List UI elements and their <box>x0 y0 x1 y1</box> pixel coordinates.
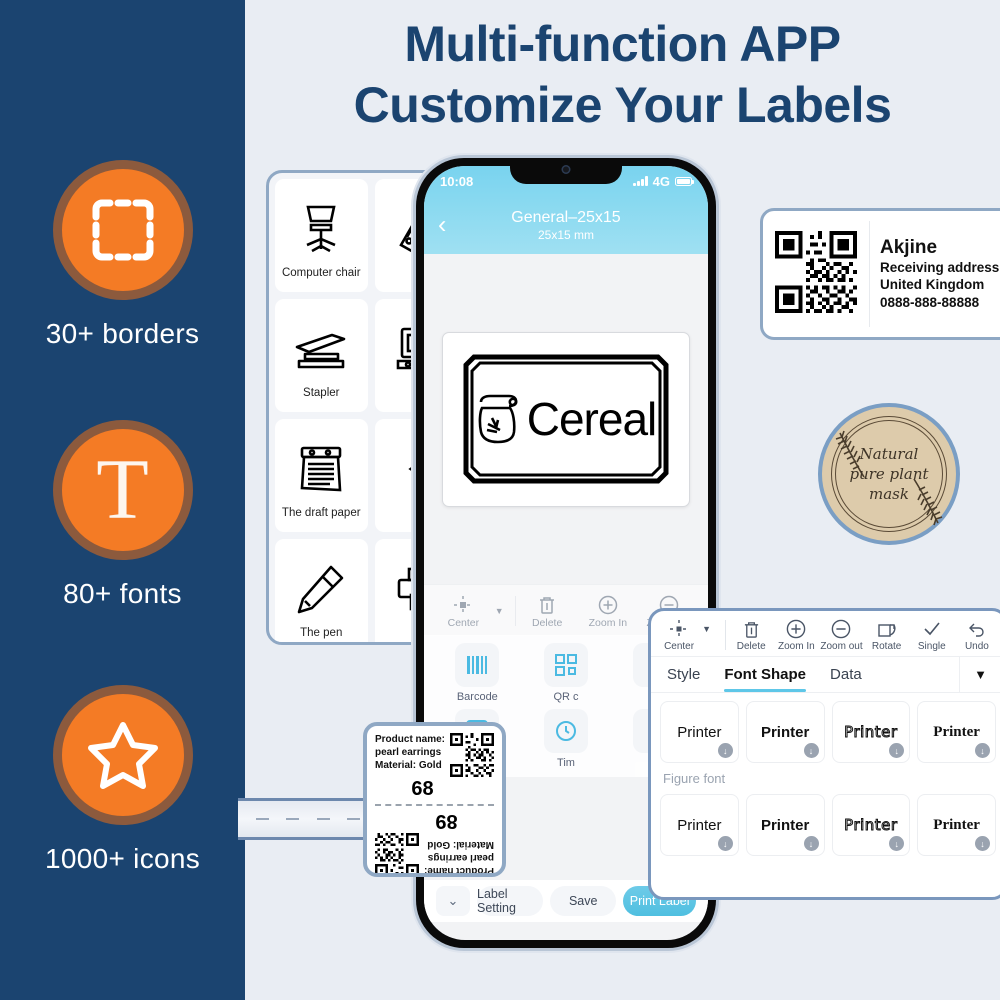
toolbar-divider <box>515 596 516 626</box>
font-sample-text: Printer <box>844 816 897 834</box>
feature-icons: 1000+ icons <box>0 685 245 875</box>
stapler-icon <box>292 313 350 385</box>
toolbar-zoom-in[interactable]: Zoom In <box>579 593 638 629</box>
app-navbar: ‹ General–25x15 25x15 mm <box>424 196 708 254</box>
cereal-bag-icon <box>476 392 522 446</box>
chevron-down-icon[interactable]: ▼ <box>495 606 513 616</box>
tab-style[interactable]: Style <box>655 657 712 692</box>
qr-code-icon <box>763 231 869 318</box>
qr-address-label-card[interactable]: Akjine Receiving address: United Kingdom… <box>760 208 1000 340</box>
check-icon <box>910 617 954 641</box>
headline-line-1: Multi-function APP <box>245 14 1000 75</box>
tab-data[interactable]: Data <box>818 657 874 692</box>
plus-circle-icon <box>774 617 818 641</box>
headline-line-2: Customize Your Labels <box>245 75 1000 136</box>
download-icon[interactable]: ↓ <box>804 743 819 758</box>
qr-code-icon <box>375 828 419 877</box>
align-center-icon <box>434 593 493 617</box>
font-sample-text: Printer <box>844 723 897 741</box>
tape-dash <box>317 818 330 821</box>
font-sample-text: Printer <box>677 817 721 834</box>
font-shape-panel[interactable]: Center ▼ Delete Zoom In Zoom out Ro <box>648 608 1000 900</box>
qr-card-text: Akjine Receiving address: United Kingdom… <box>870 237 1000 311</box>
product-label-top: Product name: pearl earrings Material: G… <box>375 733 494 782</box>
rotate-icon <box>865 617 909 641</box>
product-line-3-mirror: Material: Gold <box>423 838 494 851</box>
tool-qr-code[interactable]: QR c <box>525 643 608 703</box>
tool-time[interactable]: Tim <box>525 709 608 769</box>
office-chair-icon <box>293 193 349 265</box>
chevron-double-down-icon[interactable]: ⌄ <box>436 886 470 916</box>
tool-label: Rotate <box>872 641 901 652</box>
font-panel-tabs[interactable]: Style Font Shape Data ▼ <box>651 657 1000 693</box>
feature-label: 80+ fonts <box>0 578 245 610</box>
navbar-subtitle: 25x15 mm <box>538 228 594 242</box>
product-line-2: pearl earrings <box>375 746 446 759</box>
pen-icon <box>295 553 347 625</box>
panel-tool-rotate[interactable]: Rotate <box>865 617 909 652</box>
icon-caption: Computer chair <box>282 267 361 279</box>
font-sample-row-2[interactable]: Printer ↓ Printer ↓ Printer ↓ Printer ↓ <box>651 786 1000 856</box>
panel-tool-zoom-in[interactable]: Zoom In <box>774 617 818 652</box>
product-line-1: Product name: <box>375 733 446 746</box>
label-setting-button[interactable]: Label Setting <box>477 886 543 916</box>
icon-caption: Stapler <box>303 387 339 399</box>
toolbar-label: Delete <box>532 617 562 629</box>
font-sample-cell[interactable]: Printer ↓ <box>746 701 825 763</box>
tool-label: Undo <box>965 641 989 652</box>
plus-circle-icon <box>579 593 638 617</box>
qr-code-icon <box>544 643 588 687</box>
figure-font-section-label: Figure font <box>651 763 1000 786</box>
plant-line-3: mask <box>849 484 928 504</box>
label-canvas[interactable]: Cereal <box>424 254 708 584</box>
tool-label: Zoom In <box>778 641 815 652</box>
minus-circle-icon <box>819 617 863 641</box>
status-time: 10:08 <box>440 174 473 189</box>
font-sample-cell[interactable]: Printer ↓ <box>832 701 911 763</box>
feature-fonts: T 80+ fonts <box>0 420 245 610</box>
font-sample-row-1[interactable]: Printer ↓ Printer ↓ Printer ↓ Printer ↓ <box>651 693 1000 763</box>
signal-bars-icon <box>633 176 648 186</box>
tab-font-shape[interactable]: Font Shape <box>712 657 818 692</box>
product-label-divider <box>375 804 494 806</box>
panel-tool-undo[interactable]: Undo <box>955 617 999 652</box>
tape-dash <box>256 818 269 821</box>
qr-card-line-2: United Kingdom <box>880 276 1000 293</box>
plant-mask-round-label[interactable]: Natural pure plant mask <box>818 403 960 545</box>
tape-dash <box>347 818 360 821</box>
icon-cell-pen[interactable]: The pen <box>275 539 368 645</box>
download-icon[interactable]: ↓ <box>718 743 733 758</box>
font-sample-cell[interactable]: Printer ↓ <box>746 794 825 856</box>
label-content: Cereal <box>460 351 672 487</box>
phone-notch <box>510 158 622 184</box>
icon-caption: The draft paper <box>282 507 361 519</box>
icon-cell-computer-chair[interactable]: Computer chair <box>275 179 368 292</box>
font-panel-toolbar[interactable]: Center ▼ Delete Zoom In Zoom out Ro <box>651 611 1000 657</box>
undo-icon <box>955 617 999 641</box>
font-sample-text: Printer <box>933 817 980 834</box>
chevron-down-icon[interactable]: ▼ <box>959 657 1000 692</box>
icon-cell-draft-paper[interactable]: The draft paper <box>275 419 368 532</box>
plant-line-2: pure plant <box>849 464 928 484</box>
page-title: Multi-function APP Customize Your Labels <box>245 14 1000 136</box>
product-line-3: Material: Gold <box>375 759 446 772</box>
tool-label: Center <box>664 641 694 652</box>
trash-icon <box>518 593 577 617</box>
text-T-icon: T <box>96 445 149 531</box>
download-icon[interactable]: ↓ <box>889 743 904 758</box>
font-sample-text: Printer <box>677 724 721 741</box>
draft-paper-icon <box>295 433 347 505</box>
toolbar-delete[interactable]: Delete <box>518 593 577 629</box>
download-icon[interactable]: ↓ <box>889 836 904 851</box>
product-line-1-mirror: Product name: <box>423 864 494 877</box>
tool-label: Zoom out <box>820 641 862 652</box>
product-line-2-mirror: pearl earrings <box>423 851 494 864</box>
feature-label: 1000+ icons <box>0 843 245 875</box>
icon-caption: The pen <box>300 627 342 639</box>
tool-label: Delete <box>737 641 766 652</box>
borders-icon <box>92 199 154 261</box>
qr-card-line-1: Receiving address: <box>880 259 1000 276</box>
save-button[interactable]: Save <box>550 886 616 916</box>
icon-cell-stapler[interactable]: Stapler <box>275 299 368 412</box>
toolbar-label: Center <box>448 617 480 629</box>
qr-card-line-3: 0888-888-88888 <box>880 294 1000 311</box>
chevron-down-icon[interactable]: ▼ <box>702 624 722 634</box>
network-label: 4G <box>653 174 670 189</box>
font-sample-cell[interactable]: Printer ↓ <box>660 701 739 763</box>
feature-label: 30+ borders <box>0 318 245 350</box>
font-sample-text: Printer <box>761 724 809 741</box>
toolbar-center[interactable]: Center <box>434 593 493 629</box>
download-icon[interactable]: ↓ <box>718 836 733 851</box>
tool-label: Single <box>918 641 946 652</box>
front-camera-icon <box>562 165 571 174</box>
font-sample-cell[interactable]: Printer ↓ <box>917 701 996 763</box>
panel-tool-zoom-out[interactable]: Zoom out <box>819 617 863 652</box>
panel-tool-single[interactable]: Single <box>910 617 954 652</box>
product-label-bottom: Product name: pearl earrings Material: G… <box>375 809 494 877</box>
status-indicators: 4G <box>633 174 692 189</box>
chevron-left-icon[interactable]: ‹ <box>438 213 446 238</box>
label-tape-strip <box>238 798 378 840</box>
label-preview-card[interactable]: Cereal <box>442 332 690 507</box>
plant-badge-text: Natural pure plant mask <box>849 444 928 505</box>
battery-icon <box>675 177 692 186</box>
download-icon[interactable]: ↓ <box>804 836 819 851</box>
font-sample-cell[interactable]: Printer ↓ <box>832 794 911 856</box>
toolbar-divider <box>725 620 726 650</box>
star-icon <box>86 719 160 791</box>
tool-label: Barcode <box>436 691 519 703</box>
download-icon[interactable]: ↓ <box>975 836 990 851</box>
tool-label: QR c <box>525 691 608 703</box>
qr-card-name: Akjine <box>880 237 1000 259</box>
barcode-icon <box>455 643 499 687</box>
font-sample-cell[interactable]: Printer ↓ <box>660 794 739 856</box>
product-label-card[interactable]: Product name: pearl earrings Material: G… <box>363 722 506 877</box>
panel-tool-delete[interactable]: Delete <box>729 617 773 652</box>
font-sample-cell[interactable]: Printer ↓ <box>917 794 996 856</box>
panel-tool-center[interactable]: Center <box>657 617 701 652</box>
toolbar-label: Zoom In <box>589 617 628 629</box>
download-icon[interactable]: ↓ <box>975 743 990 758</box>
font-sample-text: Printer <box>761 817 809 834</box>
feature-borders: 30+ borders <box>0 160 245 350</box>
tape-dash <box>286 818 299 821</box>
trash-icon <box>729 617 773 641</box>
icons-badge <box>53 685 193 825</box>
font-sample-text: Printer <box>933 724 980 741</box>
tool-label: Tim <box>525 757 608 769</box>
align-center-icon <box>657 617 701 641</box>
qr-code-icon <box>450 733 494 782</box>
tool-barcode[interactable]: Barcode <box>436 643 519 703</box>
fonts-badge: T <box>53 420 193 560</box>
time-icon <box>544 709 588 753</box>
plant-line-1: Natural <box>849 444 928 464</box>
borders-badge <box>53 160 193 300</box>
navbar-title: General–25x15 <box>511 209 620 227</box>
left-feature-sidebar: 30+ borders T 80+ fonts 1000+ icons <box>0 0 245 1000</box>
